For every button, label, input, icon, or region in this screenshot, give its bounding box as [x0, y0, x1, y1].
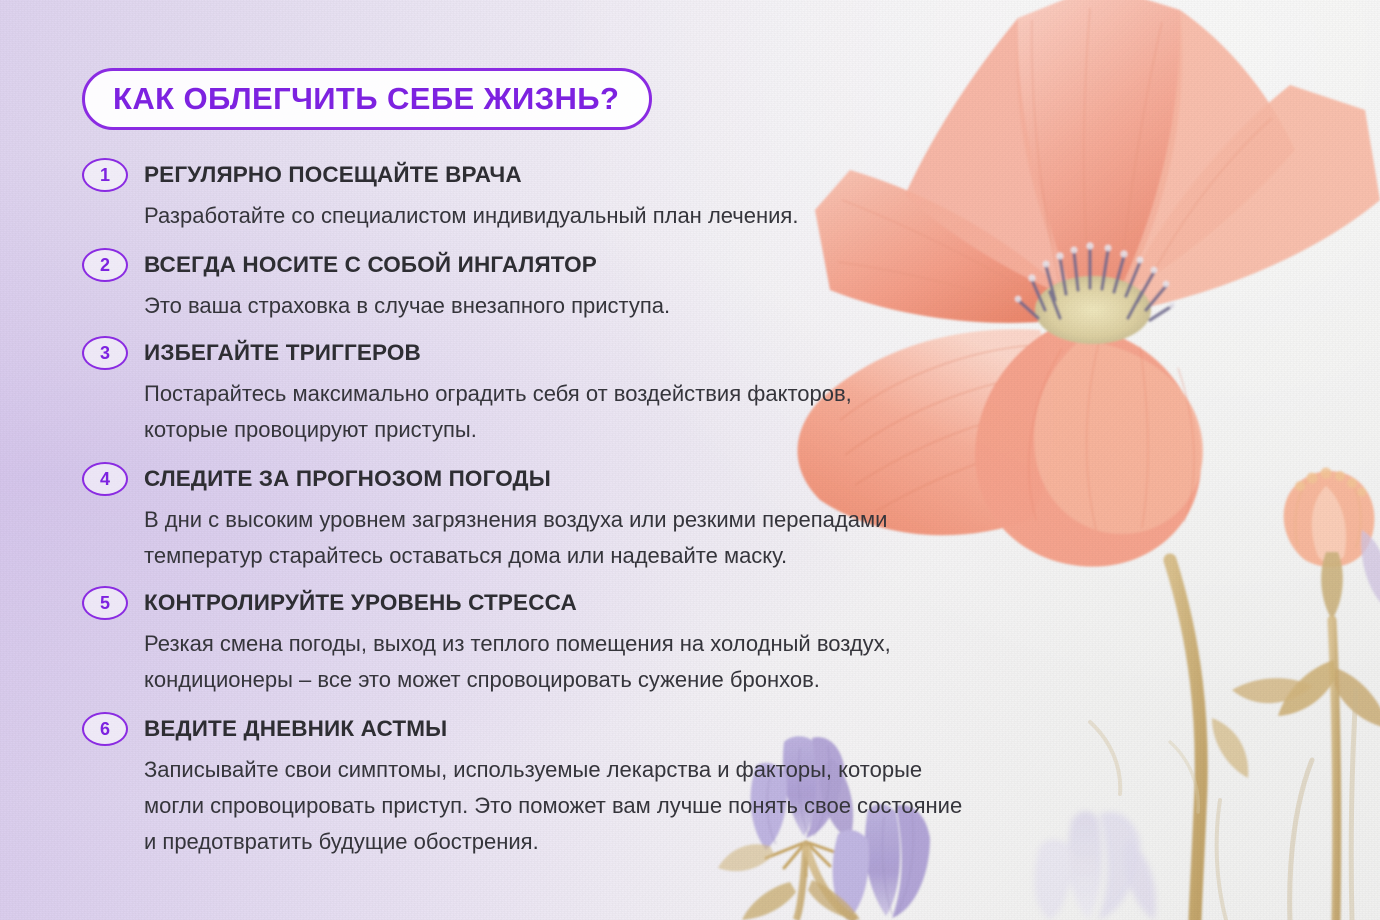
number-badge-label: 5 — [100, 594, 110, 612]
tip-body: В дни с высоким уровнем загрязнения возд… — [144, 502, 1234, 574]
tip-body: Это ваша страховка в случае внезапного п… — [144, 288, 1234, 324]
tip-body-line: и предотвратить будущие обострения. — [144, 824, 1234, 860]
tip-title: ВСЕГДА НОСИТЕ С СОБОЙ ИНГАЛЯТОР — [144, 248, 1242, 282]
tip-body: Записывайте свои симптомы, используемые … — [144, 752, 1234, 860]
list-item: 6 ВЕДИТЕ ДНЕВНИК АСТМЫ Записывайте свои … — [82, 712, 1242, 860]
poster-content: КАК ОБЛЕГЧИТЬ СЕБЕ ЖИЗНЬ? 1 РЕГУЛЯРНО ПО… — [0, 0, 1380, 920]
tip-body-line: Это ваша страховка в случае внезапного п… — [144, 288, 1234, 324]
tip-title: КОНТРОЛИРУЙТЕ УРОВЕНЬ СТРЕССА — [144, 586, 1242, 620]
number-badge: 3 — [82, 336, 128, 370]
infographic-poster: КАК ОБЛЕГЧИТЬ СЕБЕ ЖИЗНЬ? 1 РЕГУЛЯРНО ПО… — [0, 0, 1380, 920]
tip-title: РЕГУЛЯРНО ПОСЕЩАЙТЕ ВРАЧА — [144, 158, 1242, 192]
number-badge: 5 — [82, 586, 128, 620]
tips-list: 1 РЕГУЛЯРНО ПОСЕЩАЙТЕ ВРАЧА Разработайте… — [82, 158, 1242, 860]
number-badge: 4 — [82, 462, 128, 496]
number-badge-label: 3 — [100, 344, 110, 362]
page-title-text: КАК ОБЛЕГЧИТЬ СЕБЕ ЖИЗНЬ? — [113, 81, 619, 117]
tip-body-line: могли спровоцировать приступ. Это поможе… — [144, 788, 1234, 824]
tip-body-line: Постарайтесь максимально оградить себя о… — [144, 376, 1234, 412]
tip-body-line: кондиционеры – все это может спровоциров… — [144, 662, 1234, 698]
list-item: 2 ВСЕГДА НОСИТЕ С СОБОЙ ИНГАЛЯТОР Это ва… — [82, 248, 1242, 324]
tip-body-line: Записывайте свои симптомы, используемые … — [144, 752, 1234, 788]
number-badge: 6 — [82, 712, 128, 746]
tip-body-line: которые провоцируют приступы. — [144, 412, 1234, 448]
number-badge-label: 4 — [100, 470, 110, 488]
number-badge-label: 2 — [100, 256, 110, 274]
number-badge: 1 — [82, 158, 128, 192]
list-item: 3 ИЗБЕГАЙТЕ ТРИГГЕРОВ Постарайтесь макси… — [82, 336, 1242, 448]
tip-body-line: температур старайтесь оставаться дома ил… — [144, 538, 1234, 574]
list-item: 4 СЛЕДИТЕ ЗА ПРОГНОЗОМ ПОГОДЫ В дни с вы… — [82, 462, 1242, 574]
tip-body-line: В дни с высоким уровнем загрязнения возд… — [144, 502, 1234, 538]
tip-title: СЛЕДИТЕ ЗА ПРОГНОЗОМ ПОГОДЫ — [144, 462, 1242, 496]
tip-body: Постарайтесь максимально оградить себя о… — [144, 376, 1234, 448]
tip-body-line: Резкая смена погоды, выход из теплого по… — [144, 626, 1234, 662]
tip-body: Разработайте со специалистом индивидуаль… — [144, 198, 1234, 234]
number-badge-label: 6 — [100, 720, 110, 738]
number-badge-label: 1 — [100, 166, 110, 184]
tip-body-line: Разработайте со специалистом индивидуаль… — [144, 198, 1234, 234]
list-item: 5 КОНТРОЛИРУЙТЕ УРОВЕНЬ СТРЕССА Резкая с… — [82, 586, 1242, 698]
tip-body: Резкая смена погоды, выход из теплого по… — [144, 626, 1234, 698]
list-item: 1 РЕГУЛЯРНО ПОСЕЩАЙТЕ ВРАЧА Разработайте… — [82, 158, 1242, 234]
page-title: КАК ОБЛЕГЧИТЬ СЕБЕ ЖИЗНЬ? — [82, 68, 652, 130]
number-badge: 2 — [82, 248, 128, 282]
tip-title: ВЕДИТЕ ДНЕВНИК АСТМЫ — [144, 712, 1242, 746]
tip-title: ИЗБЕГАЙТЕ ТРИГГЕРОВ — [144, 336, 1242, 370]
